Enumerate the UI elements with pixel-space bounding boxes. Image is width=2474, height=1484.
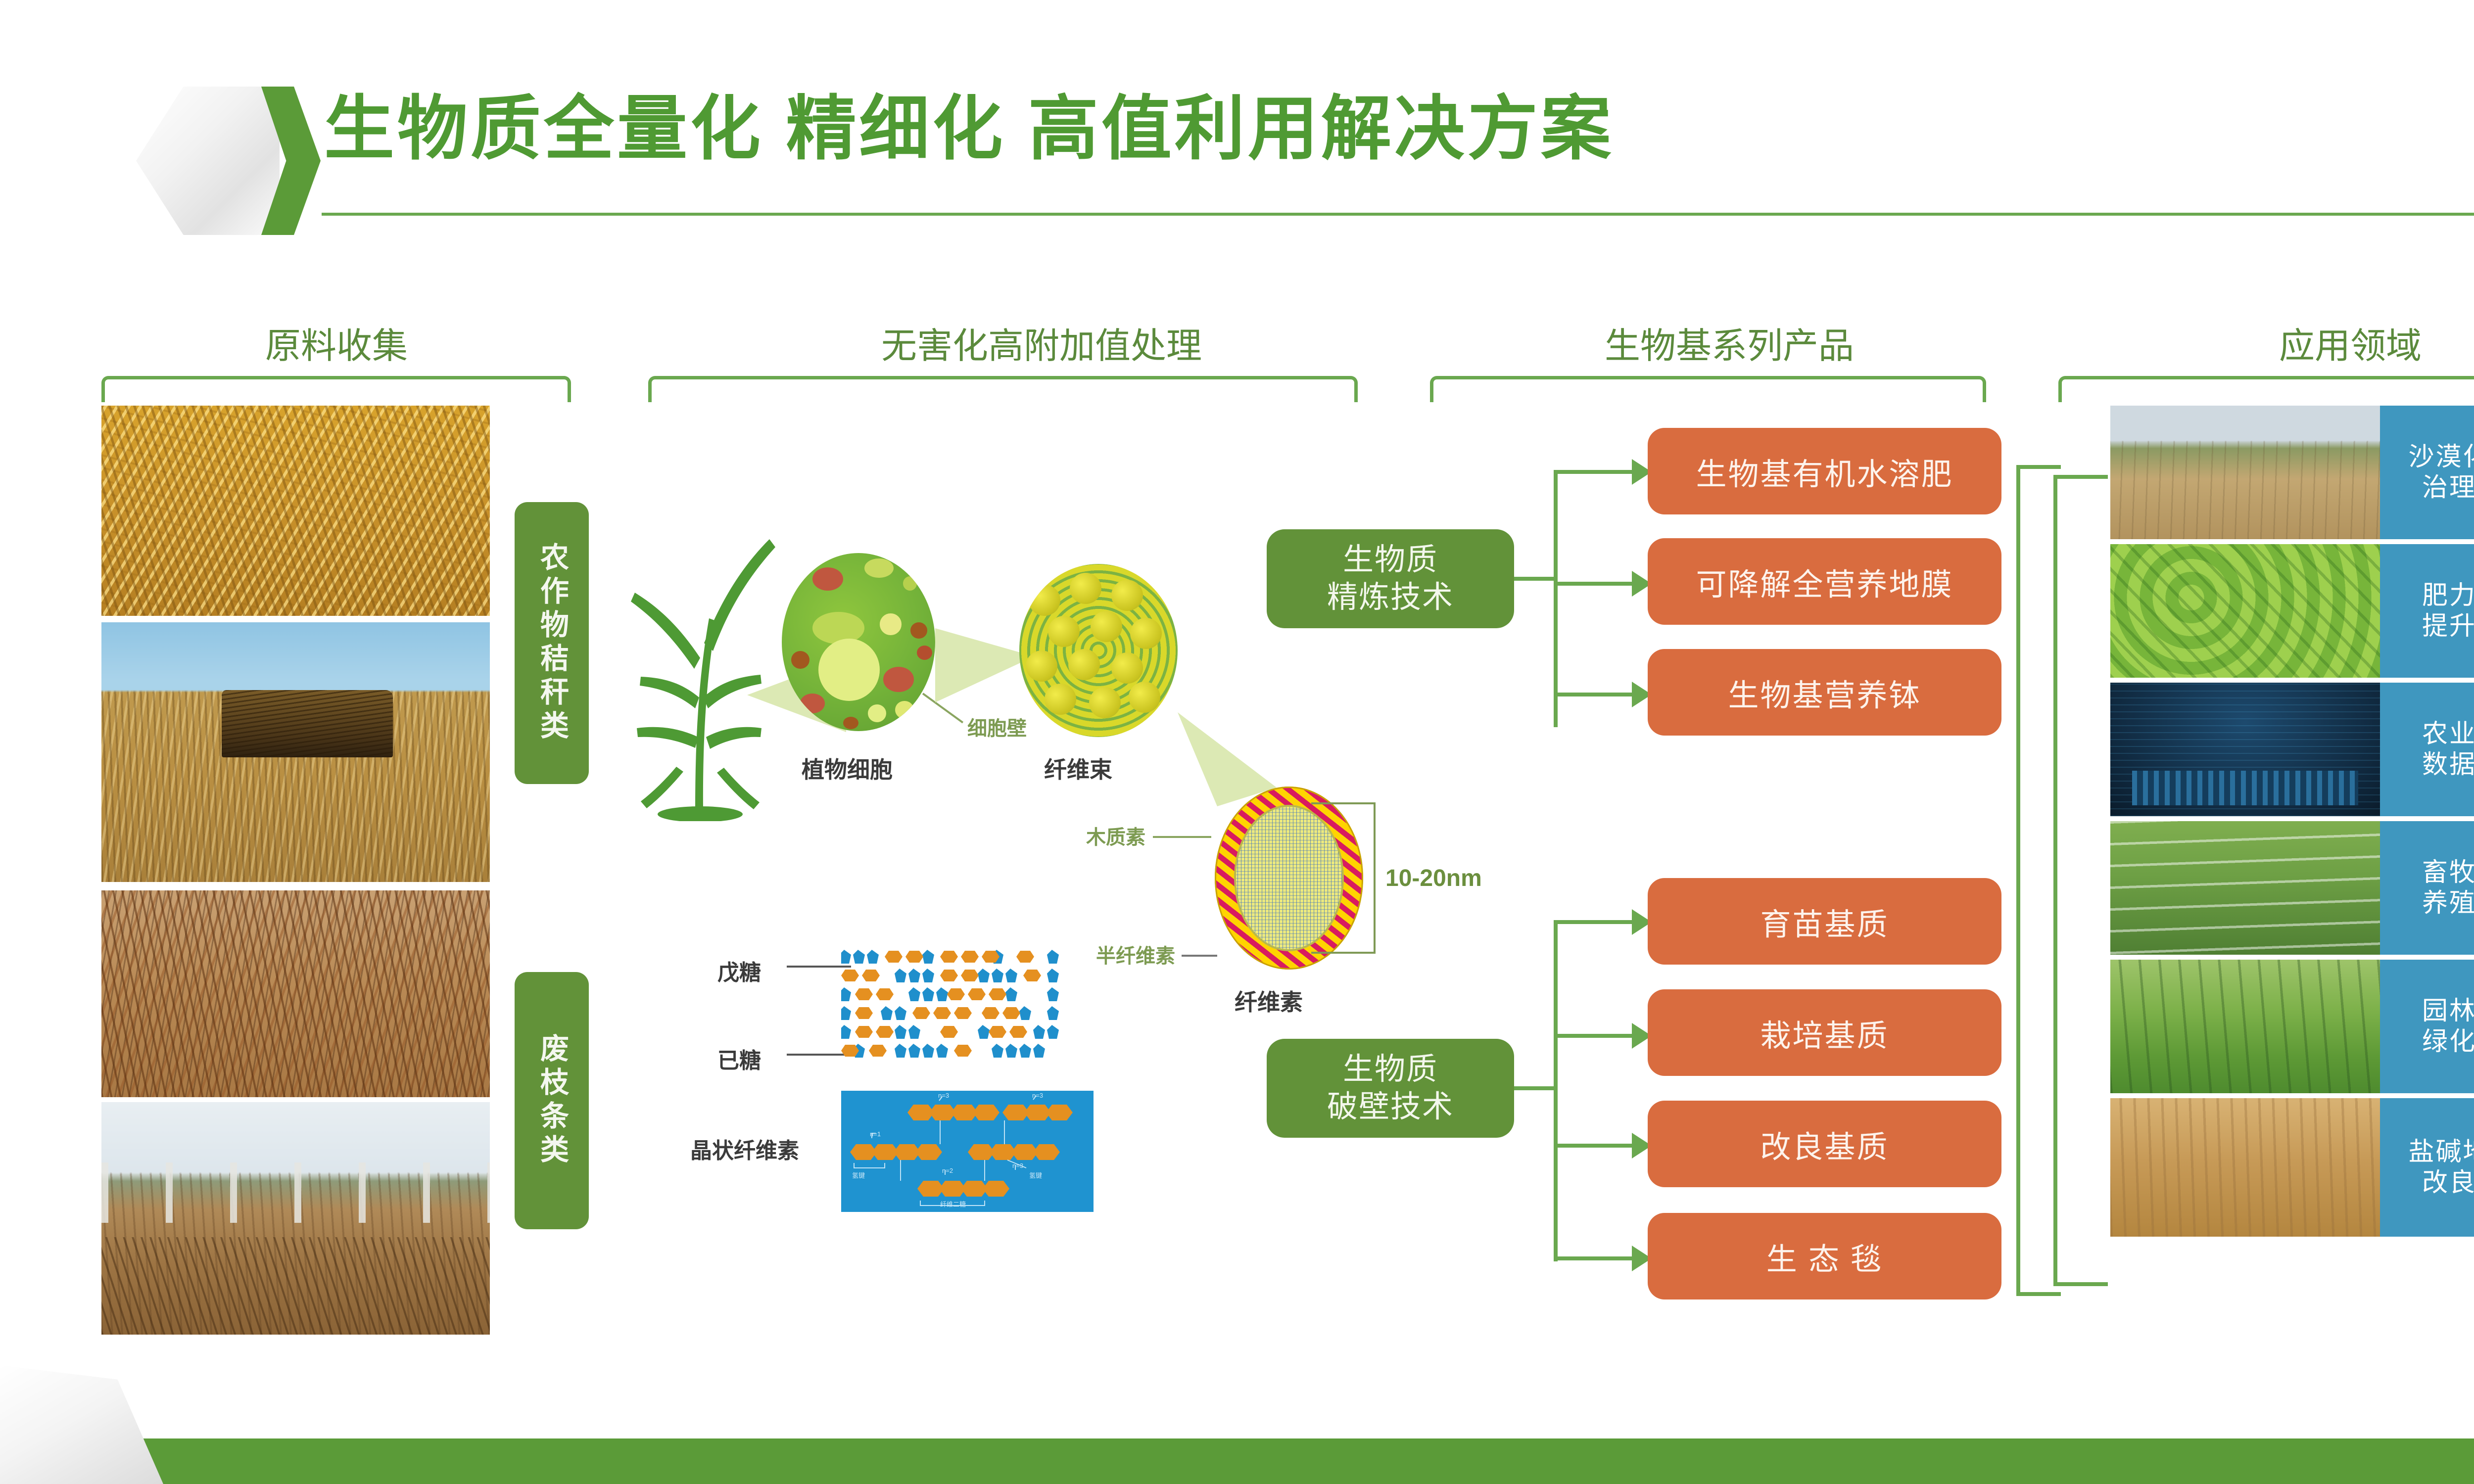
connector-applications-bottom	[2053, 1282, 2108, 1286]
dimension-line-bottom	[1311, 952, 1376, 954]
section-header-application-fields: 应用领域	[2128, 317, 2474, 369]
connector-refining-branch-3	[1554, 693, 1633, 696]
product-pill-degradable-mulch-film[interactable]: 可降解全营养地膜	[1648, 538, 2001, 625]
app-desert-line2: 治理	[2422, 472, 2474, 503]
app-photo-landscape-greening	[2110, 960, 2380, 1093]
connector-wallbreak-stem	[1514, 1086, 1556, 1090]
label-hemicellulose: 半纤维素	[1096, 940, 1175, 969]
app-photo-sheep-grazing	[2110, 821, 2380, 955]
label-scale-10-20nm: 10-20nm	[1385, 865, 1482, 892]
label-hexose: 已糖	[717, 1043, 761, 1074]
app-caption-desert-control[interactable]: 沙漠化 治理	[2380, 406, 2474, 539]
app-desert-line1: 沙漠化	[2408, 442, 2474, 472]
photo-dry-branches	[101, 890, 490, 1097]
product-pill-seedling-substrate[interactable]: 育苗基质	[1648, 878, 2001, 965]
app-caption-fertility-boost[interactable]: 肥力 提升	[2380, 544, 2474, 678]
app-data-line2: 数据	[2422, 749, 2474, 780]
label-fiber-bundle: 纤维束	[1044, 752, 1112, 785]
page-title: 生物质全量化 精细化 高值利用解决方案	[324, 94, 1614, 164]
footer-bar	[0, 1438, 2474, 1484]
app-saline-line1: 盐碱地	[2408, 1137, 2474, 1167]
fiber-bundle-illustration	[1019, 564, 1178, 737]
zoom-cone-cell-to-fiber	[935, 628, 1034, 702]
app-fertility-line2: 提升	[2422, 611, 2474, 642]
tag-waste-branches: 废枝条类	[515, 972, 589, 1229]
product-pill-nutrient-pot[interactable]: 生物基营养钵	[1648, 649, 2001, 736]
leader-line-lignin	[1153, 836, 1211, 838]
crystalline-cellulose-panel: 氢键 纤维二糖 氢键 n=3 n=3 n=1 n=2 n=3	[841, 1091, 1094, 1212]
tech-pill-wall-breaking[interactable]: 生物质 破壁技术	[1267, 1039, 1514, 1138]
app-caption-landscape-greening[interactable]: 园林 绿化	[2380, 960, 2474, 1093]
tech-wall-breaking-line1: 生物质	[1343, 1051, 1438, 1088]
app-greening-line2: 绿化	[2422, 1026, 2474, 1057]
connector-refining-stem	[1514, 577, 1556, 581]
connector-wallbreak-branch-4	[1554, 1256, 1633, 1260]
tech-wall-breaking-line2: 破壁技术	[1327, 1088, 1454, 1126]
svg-text:n=3: n=3	[938, 1092, 949, 1099]
dimension-line-vertical	[1374, 802, 1376, 954]
bracket-raw-material	[101, 376, 571, 402]
app-saline-line2: 改良	[2422, 1167, 2474, 1198]
section-header-biobased-products: 生物基系列产品	[1445, 317, 2014, 369]
tag-crop-straw: 农作物秸秆类	[515, 502, 589, 784]
connector-applications-spine	[2053, 475, 2057, 1286]
grass-plant-icon	[621, 534, 779, 821]
app-photo-desert-control	[2110, 406, 2380, 539]
label-pentose: 戊糖	[717, 955, 761, 986]
product-pill-ecological-blanket[interactable]: 生 态 毯	[1648, 1213, 2001, 1299]
svg-text:氢键: 氢键	[1029, 1172, 1042, 1179]
product-pill-cultivation-substrate[interactable]: 栽培基质	[1648, 989, 2001, 1076]
dimension-line-top	[1311, 802, 1376, 804]
label-plant-cell: 植物细胞	[802, 752, 893, 785]
connector-refining-branch-2	[1554, 582, 1633, 586]
svg-text:n=1: n=1	[870, 1130, 881, 1138]
app-photo-cabbage-field	[2110, 544, 2380, 678]
section-header-raw-material: 原料收集	[188, 317, 485, 369]
photo-orchard-pruning	[101, 1102, 490, 1335]
label-cell-wall: 细胞壁	[967, 712, 1027, 741]
sugar-chain-diagram	[841, 950, 1103, 1064]
photo-straw-bale	[101, 622, 490, 882]
connector-products-spine	[2016, 465, 2020, 1296]
tech-refining-line1: 生物质	[1343, 541, 1438, 579]
svg-text:n=3: n=3	[1012, 1162, 1023, 1169]
connector-wallbreak-branch-2	[1554, 1034, 1633, 1038]
leader-line-hemicellulose	[1182, 955, 1217, 957]
label-cellulose: 纤维素	[1235, 984, 1303, 1017]
photo-corn-straw-field	[101, 406, 490, 616]
microfibril-cross-section	[1215, 787, 1363, 970]
svg-text:n=2: n=2	[942, 1167, 953, 1174]
product-pill-water-soluble-fertilizer[interactable]: 生物基有机水溶肥	[1648, 428, 2001, 514]
label-crystalline-cellulose: 晶状纤维素	[690, 1133, 799, 1164]
app-fertility-line1: 肥力	[2422, 580, 2474, 611]
section-header-harmless-processing: 无害化高附加值处理	[762, 317, 1321, 369]
hexagon-decoration	[136, 87, 280, 235]
product-pill-improvement-substrate[interactable]: 改良基质	[1648, 1101, 2001, 1187]
bracket-harmless-processing	[648, 376, 1358, 402]
connector-products-spine-bottom	[2016, 1292, 2061, 1296]
bracket-biobased-products	[1430, 376, 1986, 402]
footer-wedge-decoration	[0, 1365, 163, 1484]
tech-pill-refining[interactable]: 生物质 精炼技术	[1267, 529, 1514, 628]
app-photo-data-dashboard	[2110, 683, 2380, 816]
connector-wallbreak-trunk	[1554, 920, 1558, 1261]
app-photo-saline-alkali-land	[2110, 1098, 2380, 1237]
connector-refining-branch-1	[1554, 470, 1633, 474]
app-caption-animal-husbandry[interactable]: 畜牧 养殖	[2380, 821, 2474, 955]
app-husbandry-line1: 畜牧	[2422, 857, 2474, 888]
svg-text:氢键: 氢键	[852, 1172, 865, 1179]
app-husbandry-line2: 养殖	[2422, 888, 2474, 919]
connector-wallbreak-branch-1	[1554, 920, 1633, 924]
connector-products-spine-top	[2016, 465, 2061, 469]
app-caption-saline-alkali-improvement[interactable]: 盐碱地 改良	[2380, 1098, 2474, 1237]
label-lignin: 木质素	[1086, 821, 1145, 850]
tech-refining-line2: 精炼技术	[1327, 579, 1454, 616]
connector-applications-top	[2053, 475, 2108, 479]
connector-wallbreak-branch-3	[1554, 1144, 1633, 1148]
connector-refining-trunk	[1554, 470, 1558, 727]
title-divider	[322, 213, 2474, 216]
app-caption-agricultural-data[interactable]: 农业 数据	[2380, 683, 2474, 816]
infographic-canvas: 生物质全量化 精细化 高值利用解决方案 原料收集 无害化高附加值处理 生物基系列…	[0, 0, 2474, 1484]
svg-text:n=3: n=3	[1032, 1092, 1043, 1099]
app-greening-line1: 园林	[2422, 996, 2474, 1026]
bracket-application-fields	[2058, 376, 2474, 402]
svg-text:纤维二糖: 纤维二糖	[940, 1201, 966, 1208]
app-data-line1: 农业	[2422, 719, 2474, 749]
plant-cell-illustration	[782, 553, 935, 731]
